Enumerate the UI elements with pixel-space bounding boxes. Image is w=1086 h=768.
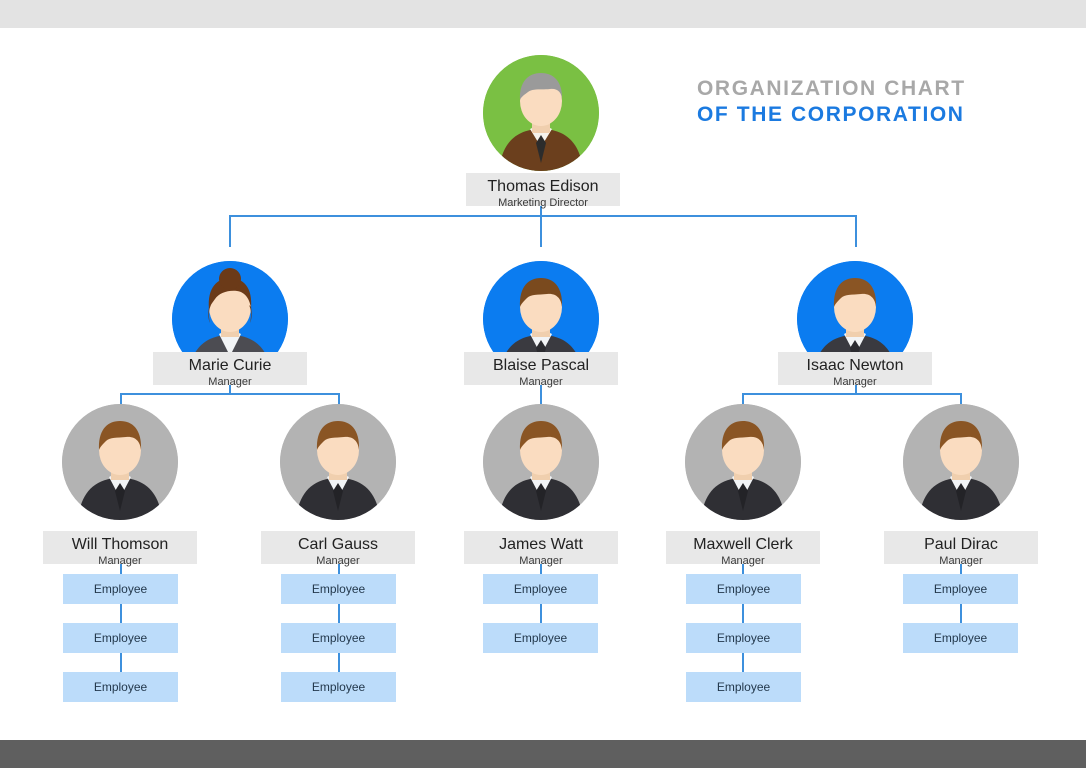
chart-title-line1: ORGANIZATION CHART — [697, 76, 1027, 102]
org-chart-canvas: ORGANIZATION CHART OF THE CORPORATION — [0, 28, 1086, 740]
connector-drop-isaac-newton — [855, 215, 857, 247]
connector-maxwell-clerk-emp3 — [742, 653, 744, 672]
connector-drop-marie-curie — [229, 215, 231, 247]
org-node-name-paul-dirac: Paul Dirac — [884, 535, 1038, 554]
connector-drop-blaise-pascal — [540, 215, 542, 247]
employee-box[interactable]: Employee — [281, 623, 396, 653]
connector-carl-gauss-emp3 — [338, 653, 340, 672]
avatar-male-gray — [280, 404, 396, 520]
org-node-name-marie-curie: Marie Curie — [153, 356, 307, 375]
employee-box[interactable]: Employee — [686, 574, 801, 604]
chart-title-line2: OF THE CORPORATION — [697, 102, 1027, 128]
avatar-male-gray — [903, 404, 1019, 520]
org-node-role-blaise-pascal: Manager — [464, 375, 618, 389]
org-node-label-ceo: Thomas Edison Marketing Director — [466, 173, 620, 206]
connector-isaac-newton-bus — [742, 393, 961, 395]
employee-box[interactable]: Employee — [63, 574, 178, 604]
connector-carl-gauss-emp2 — [338, 604, 340, 623]
employee-box[interactable]: Employee — [903, 623, 1018, 653]
employee-box[interactable]: Employee — [63, 623, 178, 653]
org-node-label-marie-curie: Marie Curie Manager — [153, 352, 307, 385]
avatar-ceo-green — [483, 55, 599, 171]
org-node-role-ceo: Marketing Director — [466, 196, 620, 210]
employee-box[interactable]: Employee — [483, 574, 598, 604]
connector-marie-curie-bus — [120, 393, 339, 395]
org-node-label-carl-gauss: Carl Gauss Manager — [261, 531, 415, 564]
org-node-name-james-watt: James Watt — [464, 535, 618, 554]
employee-box[interactable]: Employee — [63, 672, 178, 702]
org-node-label-paul-dirac: Paul Dirac Manager — [884, 531, 1038, 564]
connector-paul-dirac-emp2 — [960, 604, 962, 623]
org-node-label-blaise-pascal: Blaise Pascal Manager — [464, 352, 618, 385]
employee-box[interactable]: Employee — [483, 623, 598, 653]
org-node-label-maxwell-clerk: Maxwell Clerk Manager — [666, 531, 820, 564]
org-node-name-maxwell-clerk: Maxwell Clerk — [666, 535, 820, 554]
employee-box[interactable]: Employee — [281, 574, 396, 604]
avatar-male-gray — [483, 404, 599, 520]
employee-box[interactable]: Employee — [686, 672, 801, 702]
avatar-male-gray — [685, 404, 801, 520]
org-node-name-carl-gauss: Carl Gauss — [261, 535, 415, 554]
chart-title: ORGANIZATION CHART OF THE CORPORATION — [697, 76, 1027, 128]
org-node-label-will-thomson: Will Thomson Manager — [43, 531, 197, 564]
connector-will-thomson-emp3 — [120, 653, 122, 672]
employee-box[interactable]: Employee — [281, 672, 396, 702]
org-node-role-isaac-newton: Manager — [778, 375, 932, 389]
org-node-label-isaac-newton: Isaac Newton Manager — [778, 352, 932, 385]
connector-james-watt-emp2 — [540, 604, 542, 623]
avatar-male-gray — [62, 404, 178, 520]
employee-box[interactable]: Employee — [903, 574, 1018, 604]
org-node-label-james-watt: James Watt Manager — [464, 531, 618, 564]
employee-box[interactable]: Employee — [686, 623, 801, 653]
org-node-name-isaac-newton: Isaac Newton — [778, 356, 932, 375]
connector-maxwell-clerk-emp2 — [742, 604, 744, 623]
connector-will-thomson-emp2 — [120, 604, 122, 623]
org-node-name-ceo: Thomas Edison — [466, 177, 620, 196]
connector-level2-bus — [229, 215, 856, 217]
org-node-name-will-thomson: Will Thomson — [43, 535, 197, 554]
org-node-role-marie-curie: Manager — [153, 375, 307, 389]
window-top-bar — [0, 0, 1086, 28]
org-node-name-blaise-pascal: Blaise Pascal — [464, 356, 618, 375]
window-bottom-bar — [0, 740, 1086, 768]
